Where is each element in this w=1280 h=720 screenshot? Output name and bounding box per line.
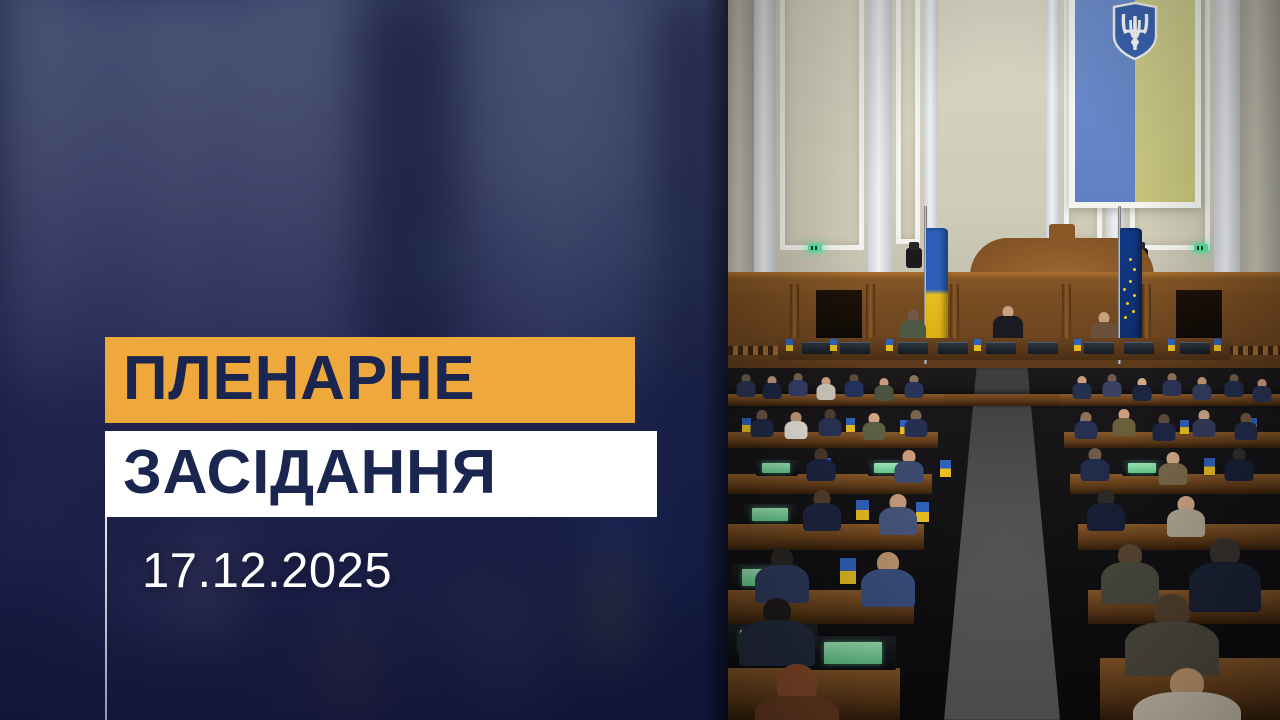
deputy xyxy=(1192,377,1212,399)
deputy xyxy=(1224,374,1244,396)
deputy xyxy=(862,413,886,439)
deputy xyxy=(874,378,894,400)
deputy xyxy=(1158,452,1188,484)
deputy xyxy=(860,552,916,604)
deputy xyxy=(1234,413,1258,439)
central-aisle xyxy=(944,368,1060,720)
deputy xyxy=(1102,374,1122,396)
presidium-desk xyxy=(778,338,1230,360)
deputy xyxy=(1152,414,1176,440)
desk-monitor xyxy=(1084,342,1114,354)
panel-edge-shadow xyxy=(702,0,728,720)
desk-monitor xyxy=(898,342,928,354)
camera-icon xyxy=(906,248,922,268)
deputy xyxy=(1132,378,1152,400)
wall-panel xyxy=(896,0,920,244)
session-date: 17.12.2025 xyxy=(142,543,392,599)
desk-monitor xyxy=(802,342,832,354)
deputy xyxy=(1100,544,1160,600)
headline-line-1: ПЛЕНАРНЕ xyxy=(105,337,635,423)
deputy xyxy=(904,375,924,397)
wall-panel xyxy=(780,0,864,250)
deputy xyxy=(1224,448,1254,480)
deputy xyxy=(1086,490,1126,530)
terminal-screen xyxy=(762,463,790,473)
deputy xyxy=(1252,379,1272,401)
deputy xyxy=(1072,376,1092,398)
exit-sign-icon xyxy=(808,244,822,252)
desk-flag xyxy=(1180,420,1189,434)
deputy xyxy=(788,373,808,395)
desk-mini-flag xyxy=(830,339,837,351)
chamber-floor xyxy=(728,368,1280,720)
deputy xyxy=(1132,668,1242,720)
deputy xyxy=(894,450,924,482)
deputy xyxy=(816,377,836,399)
desk-monitor xyxy=(1180,342,1210,354)
exit-sign-icon xyxy=(1194,244,1208,252)
desk-mini-flag xyxy=(786,339,793,351)
desk-mini-flag xyxy=(1074,339,1081,351)
wood-column xyxy=(950,284,959,346)
deputy xyxy=(802,490,842,530)
wood-column xyxy=(790,284,799,346)
desk-mini-flag xyxy=(1214,339,1221,351)
deputy xyxy=(1162,373,1182,395)
deputy xyxy=(904,410,928,436)
deputy xyxy=(736,374,756,396)
deputy xyxy=(750,410,774,436)
deputy xyxy=(1166,496,1206,536)
broadcast-title-card: ПЛЕНАРНЕ ЗАСІДАННЯ 17.12.2025 xyxy=(0,0,1280,720)
desk-flag xyxy=(846,418,855,432)
desk-monitor xyxy=(1124,342,1154,354)
terminal-screen xyxy=(752,508,788,521)
verkhovna-rada-chamber-photo xyxy=(728,0,1280,720)
wood-column xyxy=(1062,284,1071,346)
deputy xyxy=(1080,448,1110,480)
deputy xyxy=(784,412,808,438)
desk-flag xyxy=(856,500,869,520)
wood-column xyxy=(866,284,875,346)
deputy xyxy=(1192,410,1216,436)
deputy xyxy=(762,376,782,398)
headline-banners: ПЛЕНАРНЕ ЗАСІДАННЯ xyxy=(105,337,657,517)
desk-mini-flag xyxy=(1168,339,1175,351)
date-accent-rule xyxy=(105,498,107,720)
deputy xyxy=(878,494,918,534)
desk-mini-flag xyxy=(974,339,981,351)
deputy xyxy=(754,548,810,600)
deputy xyxy=(738,598,816,664)
eu-flag-cloth xyxy=(1120,228,1142,356)
desk-monitor xyxy=(938,342,968,354)
desk-monitor xyxy=(1028,342,1058,354)
deputy xyxy=(754,664,840,720)
desk-monitor xyxy=(840,342,870,354)
presidium-ledge xyxy=(728,272,1280,281)
chair-speaker-seated xyxy=(994,306,1022,342)
deputy xyxy=(1074,412,1098,438)
coat-of-arms-icon xyxy=(1112,2,1158,60)
ua-flag-cloth xyxy=(926,228,948,356)
deputy xyxy=(844,374,864,396)
desk-flag xyxy=(1204,458,1215,475)
desk-flag xyxy=(840,558,856,584)
national-flag-display xyxy=(1069,0,1201,208)
desk-mini-flag xyxy=(886,339,893,351)
terminal-screen xyxy=(824,642,882,664)
desk-flag xyxy=(940,460,951,477)
desk-monitor xyxy=(986,342,1016,354)
deputy xyxy=(806,448,836,480)
headline-line-2: ЗАСІДАННЯ xyxy=(105,431,657,517)
deputy xyxy=(1112,409,1136,435)
terminal-screen xyxy=(1128,463,1156,473)
deputy xyxy=(1188,538,1262,610)
deputy xyxy=(818,409,842,435)
